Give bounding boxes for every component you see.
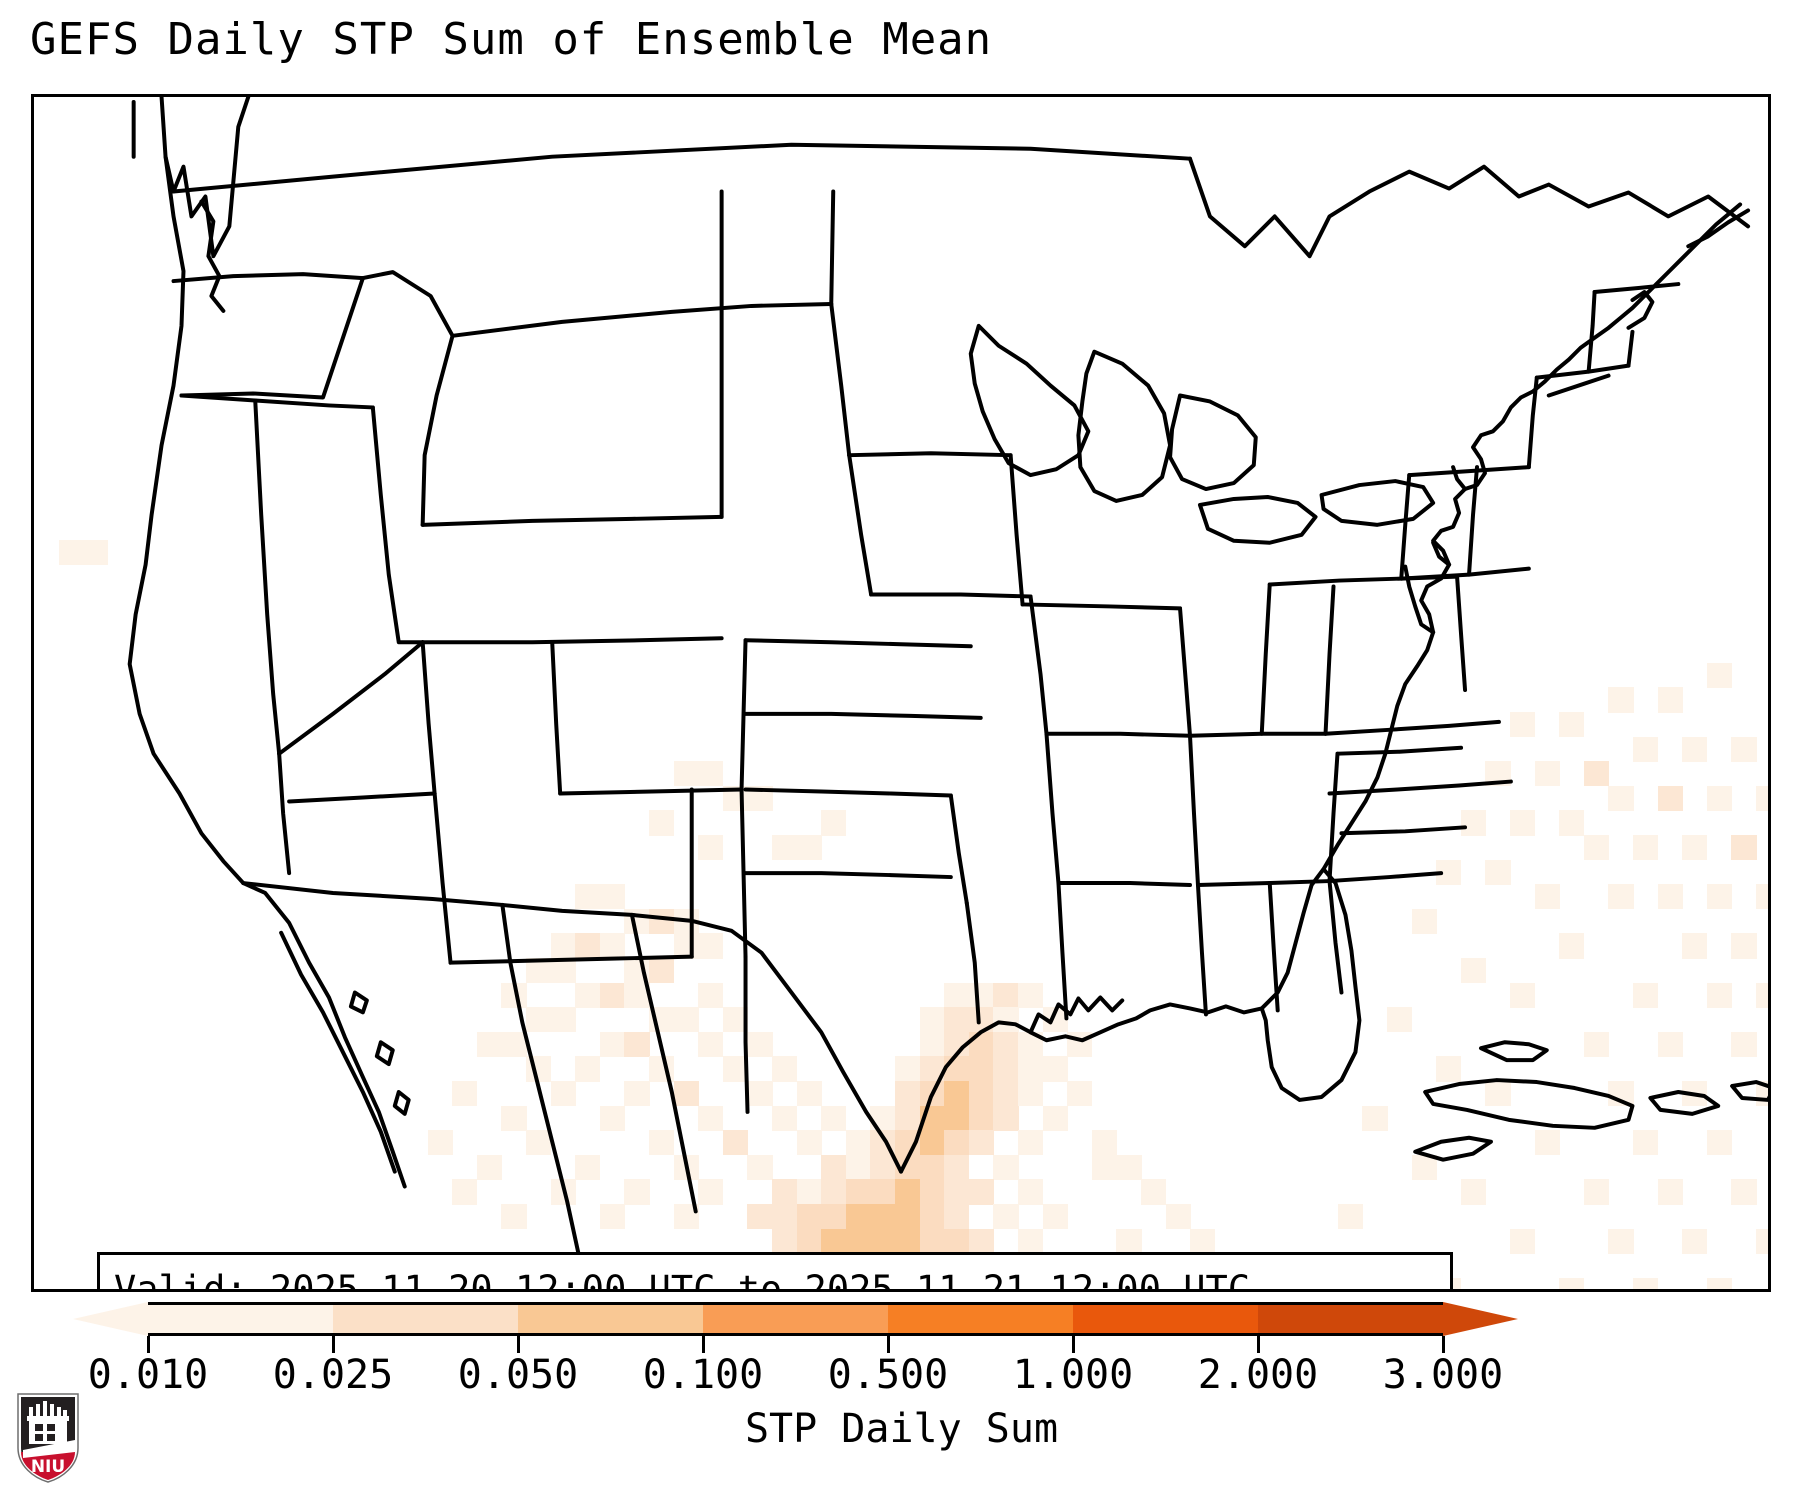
colorbar-segment-4 xyxy=(888,1305,1073,1333)
colorbar-segment-2 xyxy=(518,1305,703,1333)
niu-logo: NIU xyxy=(14,1392,82,1484)
colorbar-segment-0 xyxy=(148,1305,333,1333)
niu-logo-text: NIU xyxy=(31,1457,65,1477)
colorbar-tick-0 xyxy=(147,1336,150,1353)
map-outlines-svg xyxy=(34,97,1768,1289)
map-clip xyxy=(34,97,1768,1289)
colorbar-tick-6 xyxy=(1257,1336,1260,1353)
colorbar-segment-6 xyxy=(1258,1305,1443,1333)
colorbar-tick-4 xyxy=(887,1336,890,1353)
colorbar-tick-1 xyxy=(332,1336,335,1353)
geography-layer xyxy=(34,97,1768,1289)
colorbar-extend-left-arrow xyxy=(73,1302,148,1336)
colorbar-tick-label-6: 2.000 xyxy=(1198,1352,1318,1398)
colorbar-tick-labels: 0.0100.0250.0500.1000.5001.0002.0003.000 xyxy=(0,1352,1803,1402)
colorbar-segment-1 xyxy=(333,1305,518,1333)
page-title: GEFS Daily STP Sum of Ensemble Mean xyxy=(30,14,992,65)
colorbar-segment-3 xyxy=(703,1305,888,1333)
annotation-box: Valid: 2025-11-20 12:00 UTC to 2025-11-2… xyxy=(97,1252,1453,1292)
colorbar-tick-label-1: 0.025 xyxy=(273,1352,393,1398)
colorbar-tick-label-3: 0.100 xyxy=(643,1352,763,1398)
colorbar-tick-3 xyxy=(702,1336,705,1353)
colorbar-tick-label-7: 3.000 xyxy=(1383,1352,1503,1398)
colorbar-axis-label: STP Daily Sum xyxy=(0,1406,1803,1452)
colorbar-tick-2 xyxy=(517,1336,520,1353)
colorbar-extend-right-arrow xyxy=(1443,1302,1518,1336)
colorbar[interactable] xyxy=(0,1298,1803,1358)
colorbar-gradient xyxy=(148,1302,1443,1336)
map-panel[interactable]: Valid: 2025-11-20 12:00 UTC to 2025-11-2… xyxy=(31,94,1771,1292)
colorbar-tick-label-0: 0.010 xyxy=(88,1352,208,1398)
colorbar-tick-label-2: 0.050 xyxy=(458,1352,578,1398)
colorbar-tick-5 xyxy=(1072,1336,1075,1353)
colorbar-tick-7 xyxy=(1442,1336,1445,1353)
colorbar-segment-5 xyxy=(1073,1305,1258,1333)
niu-shield-icon: NIU xyxy=(14,1392,82,1484)
colorbar-tick-label-4: 0.500 xyxy=(828,1352,948,1398)
colorbar-tick-label-5: 1.000 xyxy=(1013,1352,1133,1398)
valid-time-text: Valid: 2025-11-20 12:00 UTC to 2025-11-2… xyxy=(114,1263,1436,1292)
